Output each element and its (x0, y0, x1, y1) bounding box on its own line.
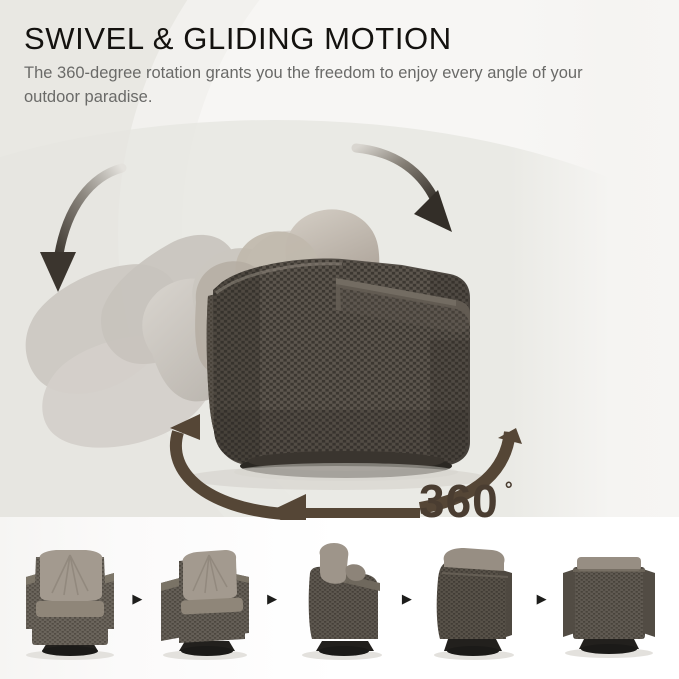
hero-chair-body (200, 250, 490, 480)
filmstrip-separator-icon: ▶ (265, 591, 279, 605)
filmstrip-frame-back-view[interactable] (553, 533, 665, 663)
filmstrip-separator-icon: ▶ (400, 591, 414, 605)
filmstrip-frame-three-quarter-left-view[interactable] (149, 533, 261, 663)
degree-symbol: ° (505, 480, 514, 500)
filmstrip-frame-three-quarter-back-view[interactable] (418, 533, 530, 663)
product-feature-infographic: SWIVEL & GLIDING MOTION The 360-degree r… (0, 0, 679, 679)
page-title: SWIVEL & GLIDING MOTION (24, 22, 644, 55)
filmstrip-frame-side-profile-view[interactable] (284, 533, 396, 663)
rotation-filmstrip: ▶ (0, 517, 679, 679)
filmstrip-separator-icon: ▶ (130, 591, 144, 605)
filmstrip-separator-icon: ▶ (535, 591, 549, 605)
header-block: SWIVEL & GLIDING MOTION The 360-degree r… (24, 22, 644, 109)
hero-illustration (0, 110, 679, 520)
filmstrip-frame-front-view[interactable] (14, 533, 126, 663)
swivel-arrow-top-right (356, 148, 452, 232)
page-subtitle: The 360-degree rotation grants you the f… (24, 62, 614, 109)
